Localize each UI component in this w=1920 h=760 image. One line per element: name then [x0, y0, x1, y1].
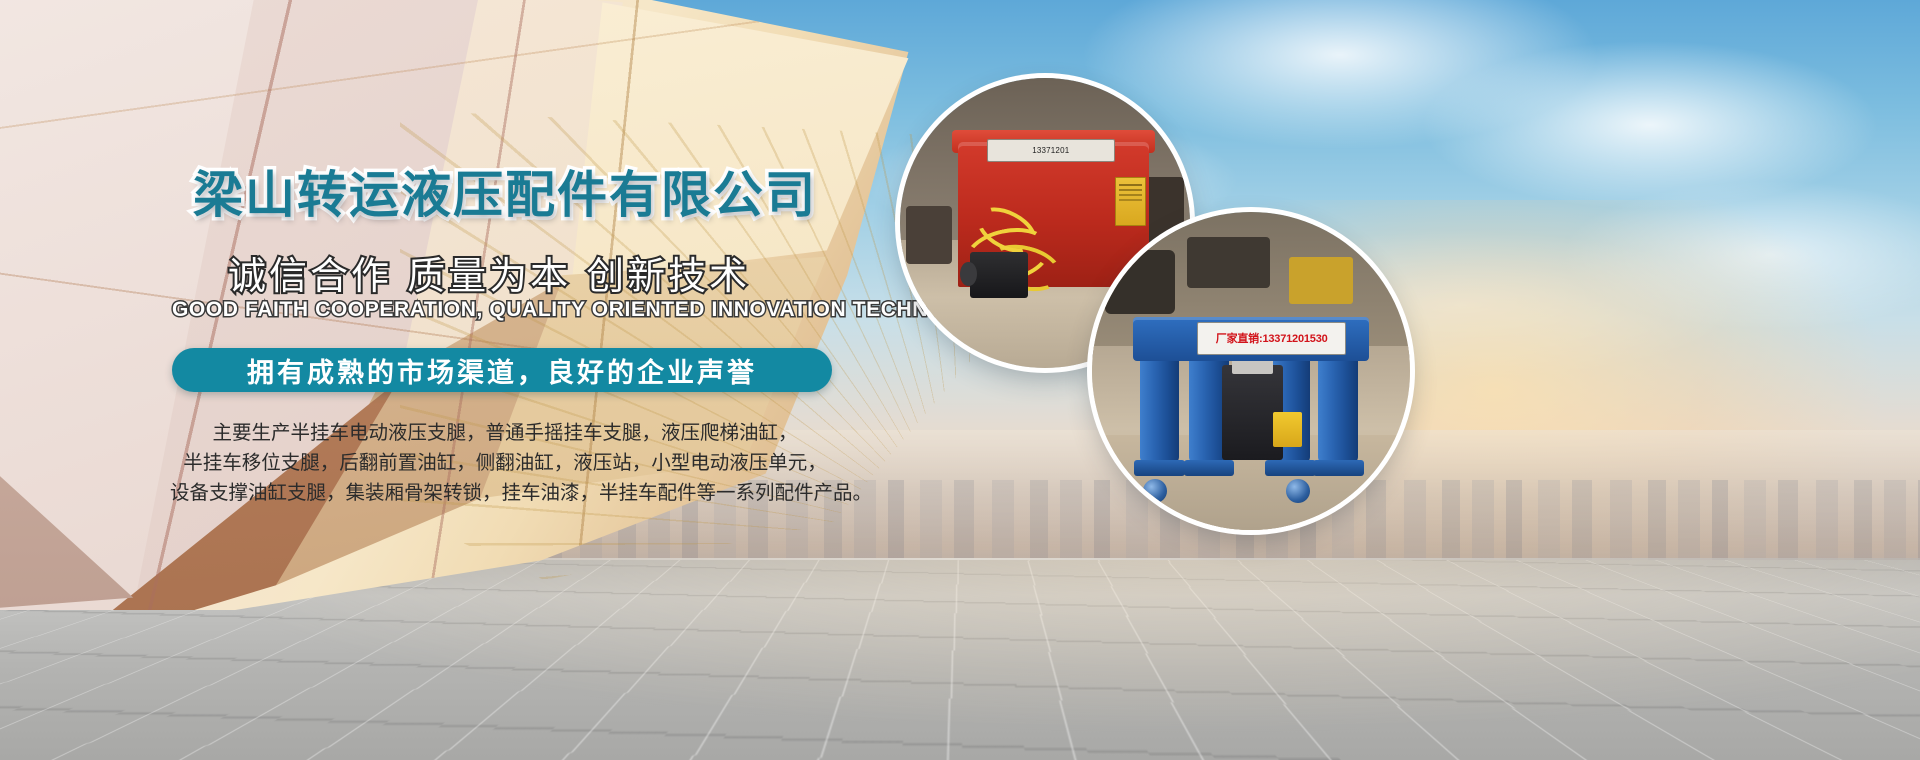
description-line: 设备支撑油缸支腿，集装厢骨架转锁，挂车油漆，半挂车配件等一系列配件产品。: [170, 478, 840, 508]
background-clutter: [1105, 250, 1175, 314]
hero-banner: 13371201: [0, 0, 1920, 760]
description-line: 主要生产半挂车电动液压支腿，普通手摇挂车支腿，液压爬梯油缸，: [170, 418, 840, 448]
background-clutter: [1187, 237, 1270, 288]
manufacturer-phone-text: 厂家直销:13371201530: [1216, 330, 1328, 346]
electric-motor: [970, 252, 1028, 298]
background-clutter: [906, 206, 952, 264]
slogan-chinese: 诚信合作 质量为本 创新技术: [228, 253, 750, 299]
page-title: 梁山转运液压配件有限公司: [193, 166, 817, 224]
banner-text-block: 梁山转运液压配件有限公司 诚信合作 质量为本 创新技术 GOOD FAITH C…: [0, 0, 1000, 760]
manufacturer-phone-plate: 厂家直销:13371201530: [1197, 322, 1346, 355]
background-clutter: [1289, 257, 1353, 305]
hydraulic-leg: [1318, 355, 1358, 463]
control-box: [1273, 412, 1302, 447]
leg-footpad: [1134, 460, 1185, 476]
blue-photo-scene: 厂家直销:13371201530: [1092, 212, 1410, 530]
red-machine-label: 13371201: [987, 139, 1115, 162]
hydraulic-leg: [1140, 355, 1180, 463]
leg-footpad: [1265, 460, 1316, 476]
caster-wheel: [1286, 479, 1310, 503]
leg-footpad: [1184, 460, 1235, 476]
product-description: 主要生产半挂车电动液压支腿，普通手摇挂车支腿，液压爬梯油缸， 半挂车移位支腿，后…: [170, 418, 840, 508]
highlight-pill-label: 拥有成熟的市场渠道，良好的企业声誉: [247, 351, 757, 390]
caster-wheel: [1143, 479, 1167, 503]
product-photo-blue[interactable]: 厂家直销:13371201530: [1092, 212, 1410, 530]
highlight-pill: 拥有成熟的市场渠道，良好的企业声誉: [172, 348, 832, 392]
cloud: [1420, 40, 1880, 210]
description-line: 半挂车移位支腿，后翻前置油缸，侧翻油缸，液压站，小型电动液压单元，: [170, 448, 840, 478]
slogan-english: GOOD FAITH COOPERATION, QUALITY ORIENTED…: [172, 298, 1007, 322]
leg-footpad: [1313, 460, 1364, 476]
